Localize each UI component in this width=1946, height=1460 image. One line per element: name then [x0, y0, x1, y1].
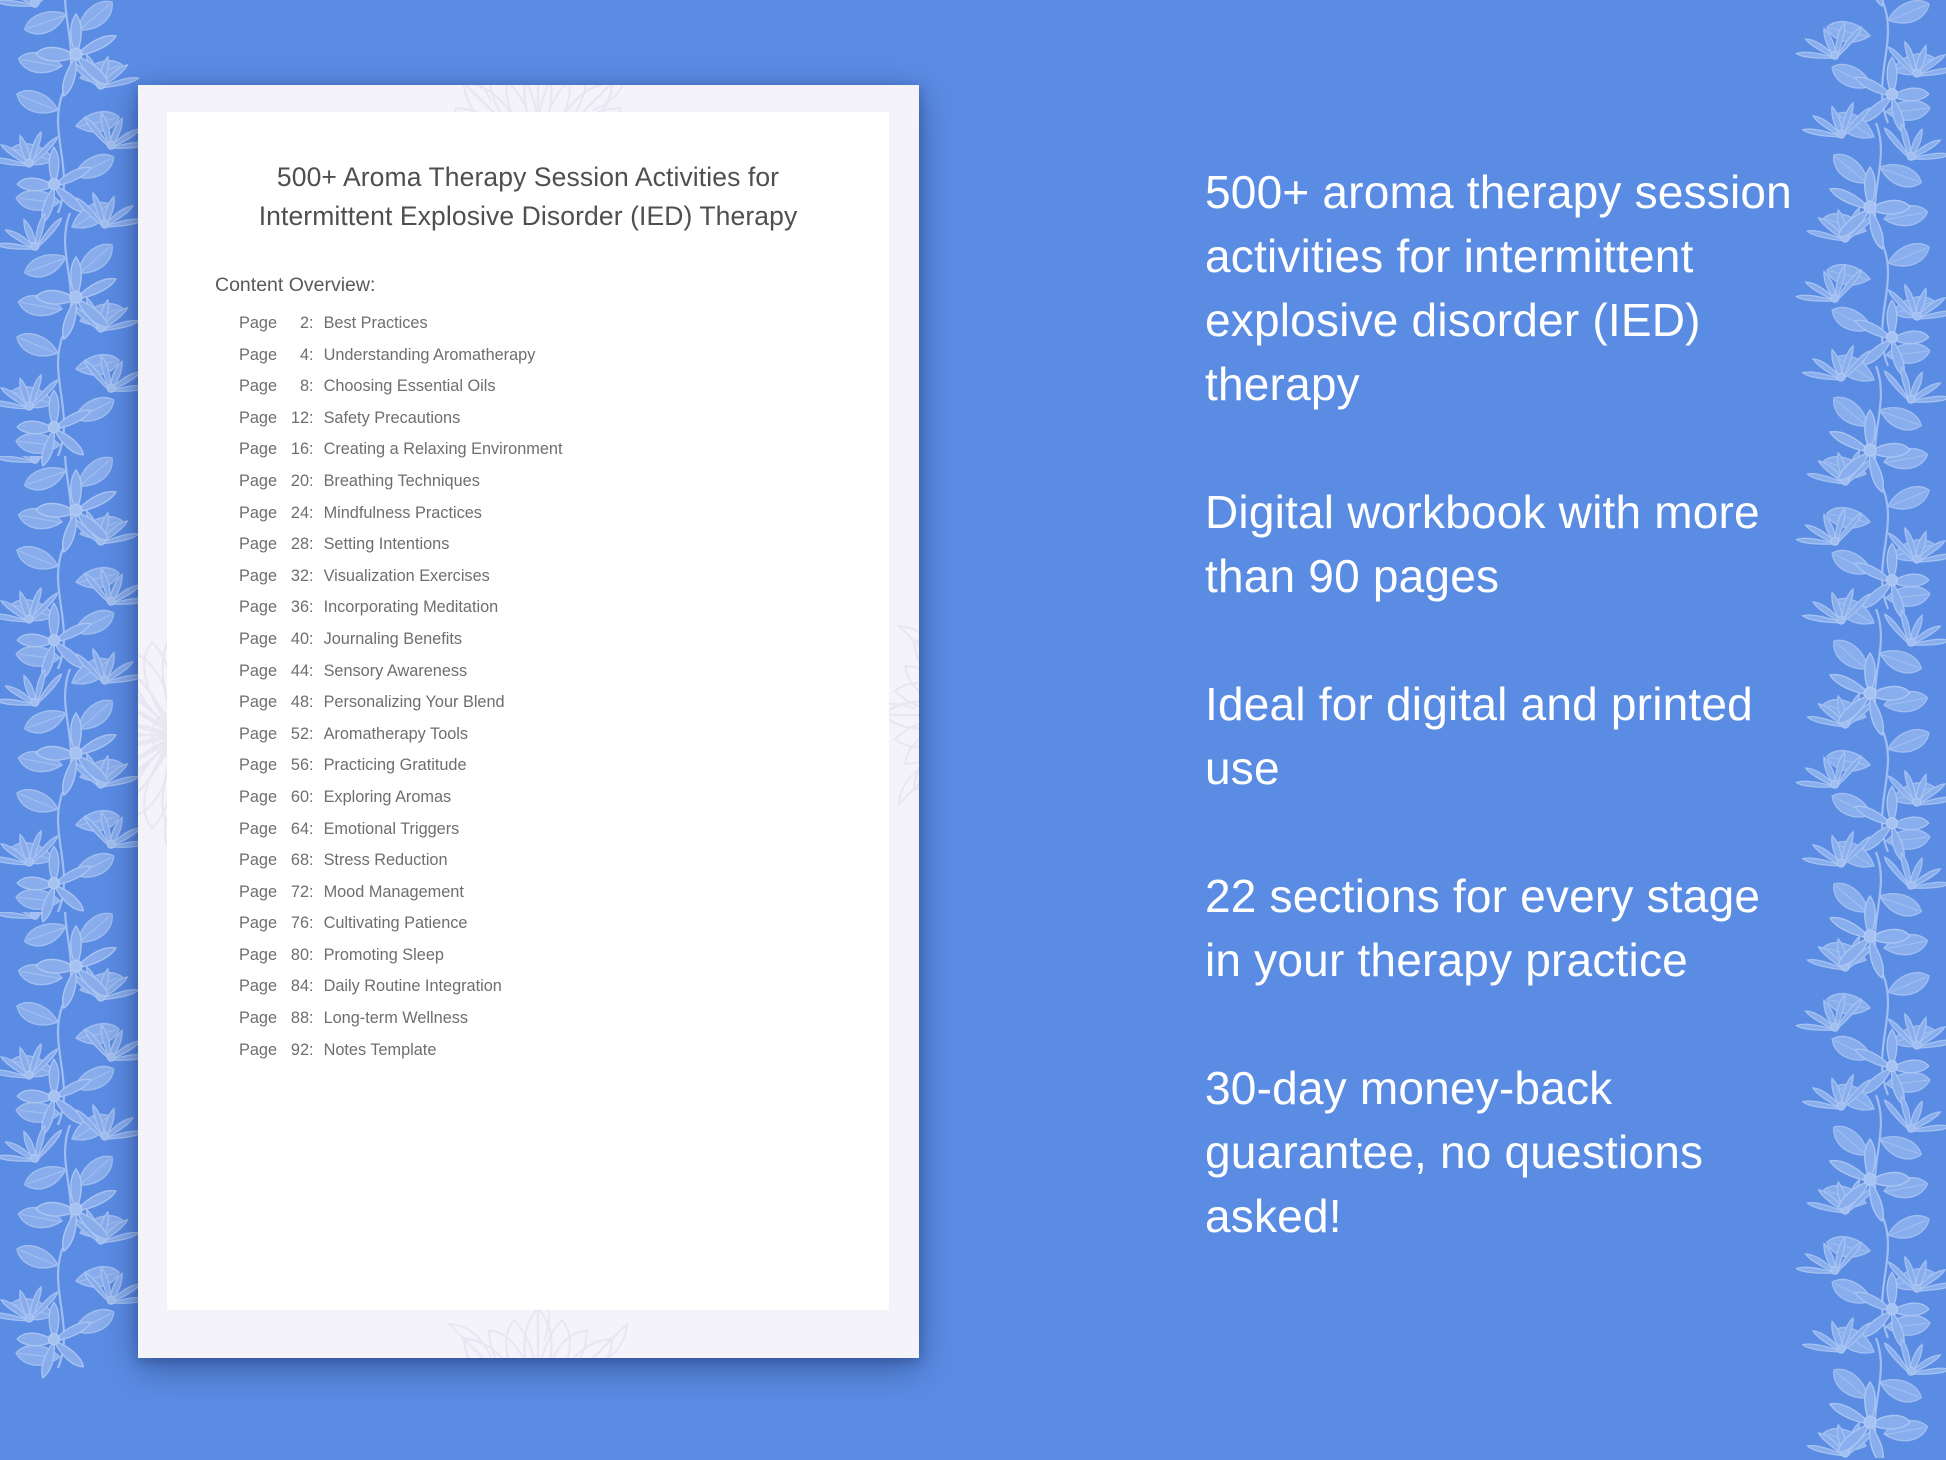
toc-page-number: 72 — [283, 883, 309, 902]
toc-page-word: Page — [239, 472, 277, 491]
toc-section-title: Exploring Aromas — [324, 788, 452, 807]
toc-page-word: Page — [239, 756, 277, 775]
toc-page-number: 16 — [283, 440, 309, 459]
toc-section-title: Mood Management — [324, 883, 464, 902]
floral-vine-icon-mirrored — [1794, 0, 1946, 486]
toc-page-number: 4 — [283, 346, 309, 365]
toc-section-title: Stress Reduction — [324, 851, 448, 870]
toc-colon: : — [309, 756, 314, 775]
toc-row: Page80:Promoting Sleep — [239, 946, 889, 978]
toc-page-word: Page — [239, 630, 277, 649]
toc-row: Page20:Breathing Techniques — [239, 472, 889, 504]
toc-section-title: Daily Routine Integration — [324, 977, 502, 996]
toc-colon: : — [309, 598, 314, 617]
toc-row: Page32:Visualization Exercises — [239, 567, 889, 599]
toc-row: Page84:Daily Routine Integration — [239, 977, 889, 1009]
toc-page-word: Page — [239, 788, 277, 807]
toc-colon: : — [309, 377, 314, 396]
toc-colon: : — [309, 409, 314, 428]
toc-section-title: Creating a Relaxing Environment — [324, 440, 563, 459]
toc-section-title: Cultivating Patience — [324, 914, 468, 933]
toc-row: Page60:Exploring Aromas — [239, 788, 889, 820]
toc-page-number: 28 — [283, 535, 309, 554]
toc-colon: : — [309, 535, 314, 554]
toc-page-number: 20 — [283, 472, 309, 491]
toc-colon: : — [309, 314, 314, 333]
toc-row: Page16:Creating a Relaxing Environment — [239, 440, 889, 472]
marketing-block: 500+ aroma therapy session activities fo… — [1205, 160, 1805, 416]
toc-row: Page52:Aromatherapy Tools — [239, 725, 889, 757]
toc-colon: : — [309, 440, 314, 459]
toc-section-title: Setting Intentions — [324, 535, 450, 554]
toc-row: Page44:Sensory Awareness — [239, 662, 889, 694]
toc-page-word: Page — [239, 598, 277, 617]
toc-page-word: Page — [239, 504, 277, 523]
toc-row: Page56:Practicing Gratitude — [239, 756, 889, 788]
toc-colon: : — [309, 851, 314, 870]
toc-colon: : — [309, 788, 314, 807]
toc-page-number: 40 — [283, 630, 309, 649]
toc-page-word: Page — [239, 440, 277, 459]
toc-row: Page28:Setting Intentions — [239, 535, 889, 567]
toc-page-number: 8 — [283, 377, 309, 396]
toc-page-number: 48 — [283, 693, 309, 712]
toc-colon: : — [309, 977, 314, 996]
toc-colon: : — [309, 946, 314, 965]
toc-section-title: Promoting Sleep — [324, 946, 444, 965]
toc-page-word: Page — [239, 1009, 277, 1028]
toc-section-title: Aromatherapy Tools — [324, 725, 469, 744]
toc-section-title: Emotional Triggers — [324, 820, 460, 839]
toc-page-number: 88 — [283, 1009, 309, 1028]
floral-vine-icon-mirrored-repeat — [1794, 486, 1946, 972]
toc-row: Page76:Cultivating Patience — [239, 914, 889, 946]
toc-page-word: Page — [239, 567, 277, 586]
toc-section-title: Visualization Exercises — [324, 567, 490, 586]
toc-colon: : — [309, 504, 314, 523]
toc-colon: : — [309, 630, 314, 649]
toc-page-number: 2 — [283, 314, 309, 333]
toc-section-title: Personalizing Your Blend — [324, 693, 505, 712]
toc-section-title: Long-term Wellness — [324, 1009, 468, 1028]
toc-page-number: 64 — [283, 820, 309, 839]
toc-section-title: Best Practices — [324, 314, 428, 333]
page-title: 500+ Aroma Therapy Session Activities fo… — [233, 158, 823, 236]
floral-vine-icon-repeat-2 — [0, 912, 152, 1398]
toc-page-word: Page — [239, 314, 277, 333]
toc-row: Page12:Safety Precautions — [239, 409, 889, 441]
toc-page-number: 76 — [283, 914, 309, 933]
toc-page-number: 36 — [283, 598, 309, 617]
toc-section-title: Journaling Benefits — [324, 630, 462, 649]
toc-page-word: Page — [239, 535, 277, 554]
toc-row: Page68:Stress Reduction — [239, 851, 889, 883]
toc-colon: : — [309, 472, 314, 491]
toc-page-word: Page — [239, 946, 277, 965]
toc-page-word: Page — [239, 377, 277, 396]
toc-page-word: Page — [239, 725, 277, 744]
toc-colon: : — [309, 883, 314, 902]
toc-row: Page2:Best Practices — [239, 314, 889, 346]
toc-colon: : — [309, 567, 314, 586]
toc-row: Page8:Choosing Essential Oils — [239, 377, 889, 409]
content-overview-label: Content Overview: — [215, 274, 889, 297]
toc-row: Page40:Journaling Benefits — [239, 630, 889, 662]
toc-colon: : — [309, 1041, 314, 1060]
toc-section-title: Breathing Techniques — [324, 472, 480, 491]
toc-page-word: Page — [239, 1041, 277, 1060]
marketing-block: 30-day money-back guarantee, no question… — [1205, 1056, 1805, 1248]
toc-section-title: Safety Precautions — [324, 409, 461, 428]
toc-page-word: Page — [239, 851, 277, 870]
document-preview-card[interactable]: 500+ Aroma Therapy Session Activities fo… — [138, 85, 919, 1358]
toc-section-title: Understanding Aromatherapy — [324, 346, 536, 365]
toc-section-title: Incorporating Meditation — [324, 598, 499, 617]
toc-page-number: 44 — [283, 662, 309, 681]
toc-page-number: 84 — [283, 977, 309, 996]
floral-border-right — [1794, 0, 1946, 1460]
marketing-copy-column: 500+ aroma therapy session activities fo… — [1205, 160, 1805, 1248]
floral-border-left — [0, 0, 152, 1460]
toc-row: Page36:Incorporating Meditation — [239, 598, 889, 630]
toc-row: Page4:Understanding Aromatherapy — [239, 346, 889, 378]
toc-section-title: Practicing Gratitude — [324, 756, 467, 775]
floral-vine-icon-mirrored-repeat-2 — [1794, 972, 1946, 1458]
toc-row: Page64:Emotional Triggers — [239, 820, 889, 852]
toc-page-number: 60 — [283, 788, 309, 807]
toc-page-number: 12 — [283, 409, 309, 428]
toc-section-title: Notes Template — [324, 1041, 437, 1060]
marketing-block: Ideal for digital and printed use — [1205, 672, 1805, 800]
toc-colon: : — [309, 693, 314, 712]
toc-row: Page88:Long-term Wellness — [239, 1009, 889, 1041]
toc-colon: : — [309, 914, 314, 933]
marketing-block: 22 sections for every stage in your ther… — [1205, 864, 1805, 992]
toc-page-number: 92 — [283, 1041, 309, 1060]
toc-section-title: Sensory Awareness — [324, 662, 468, 681]
toc-page-word: Page — [239, 914, 277, 933]
toc-colon: : — [309, 346, 314, 365]
table-of-contents-list: Page2:Best PracticesPage4:Understanding … — [239, 314, 889, 1072]
toc-colon: : — [309, 820, 314, 839]
toc-row: Page92:Notes Template — [239, 1041, 889, 1073]
toc-page-word: Page — [239, 346, 277, 365]
toc-page-number: 24 — [283, 504, 309, 523]
floral-vine-icon — [0, 0, 152, 486]
toc-page-word: Page — [239, 693, 277, 712]
toc-row: Page48:Personalizing Your Blend — [239, 693, 889, 725]
toc-section-title: Mindfulness Practices — [324, 504, 482, 523]
toc-page-number: 32 — [283, 567, 309, 586]
toc-page-word: Page — [239, 820, 277, 839]
toc-page-word: Page — [239, 883, 277, 902]
marketing-block: Digital workbook with more than 90 pages — [1205, 480, 1805, 608]
toc-page-number: 80 — [283, 946, 309, 965]
toc-page-number: 68 — [283, 851, 309, 870]
toc-section-title: Choosing Essential Oils — [324, 377, 496, 396]
toc-colon: : — [309, 1009, 314, 1028]
toc-page-word: Page — [239, 409, 277, 428]
toc-colon: : — [309, 725, 314, 744]
document-page: 500+ Aroma Therapy Session Activities fo… — [167, 112, 889, 1310]
toc-row: Page24:Mindfulness Practices — [239, 504, 889, 536]
toc-row: Page72:Mood Management — [239, 883, 889, 915]
toc-page-word: Page — [239, 977, 277, 996]
toc-page-number: 56 — [283, 756, 309, 775]
floral-vine-icon-repeat — [0, 456, 152, 942]
toc-page-word: Page — [239, 662, 277, 681]
toc-colon: : — [309, 662, 314, 681]
toc-page-number: 52 — [283, 725, 309, 744]
